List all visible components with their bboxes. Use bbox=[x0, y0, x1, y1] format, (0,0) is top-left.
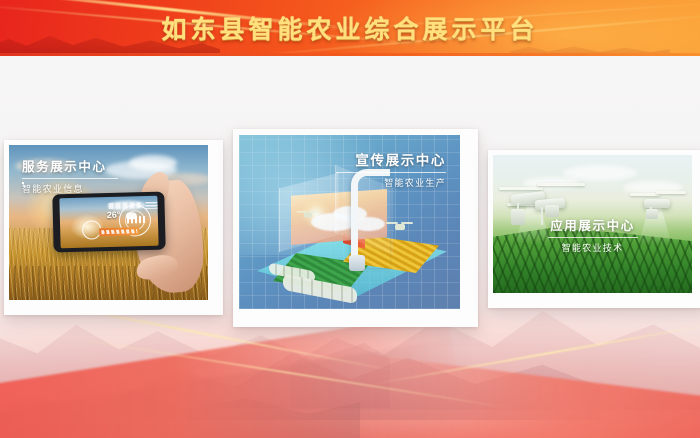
card-application-caption: 应用展示中心 智能农业技术 bbox=[493, 215, 692, 254]
drone-icon bbox=[298, 210, 319, 219]
caption-dot bbox=[22, 182, 24, 184]
card-application-center[interactable]: 应用展示中心 智能农业技术 bbox=[488, 150, 700, 308]
card-promotion-title: 宣传展示中心 bbox=[336, 149, 446, 169]
card-application-title: 应用展示中心 bbox=[493, 215, 692, 234]
drone-body bbox=[304, 213, 312, 218]
card-promotion-image: 宣传展示中心 智能农业生产 bbox=[239, 135, 460, 309]
card-promotion-caption: 宣传展示中心 智能农业生产 bbox=[336, 149, 446, 189]
header-banner: 如东县智能农业综合展示平台 bbox=[0, 0, 700, 56]
screen-info-strip bbox=[99, 227, 139, 236]
drone-body bbox=[395, 224, 405, 230]
pipe-base bbox=[349, 255, 365, 271]
hud-level-bars bbox=[127, 216, 145, 223]
caption-rule bbox=[336, 172, 446, 173]
card-service-subtitle: 智能农业信息 bbox=[22, 182, 118, 195]
card-service-image: 26° 服务展示中心 智能农业信息 bbox=[9, 145, 208, 300]
card-promotion-center[interactable]: 宣传展示中心 智能农业生产 bbox=[233, 129, 478, 327]
drone-body bbox=[644, 199, 670, 208]
cloud bbox=[563, 165, 637, 181]
cloud bbox=[129, 155, 177, 171]
card-promotion-subtitle: 智能农业生产 bbox=[336, 176, 446, 189]
drone-rotor bbox=[656, 191, 686, 194]
card-service-caption: 服务展示中心 智能农业信息 bbox=[22, 156, 118, 195]
drone-rotor bbox=[537, 183, 585, 186]
caption-rule bbox=[22, 178, 118, 179]
card-application-subtitle: 智能农业技术 bbox=[493, 241, 692, 254]
smartphone: 26° bbox=[52, 192, 165, 253]
drone-icon bbox=[387, 221, 413, 232]
card-service-center[interactable]: 26° 服务展示中心 智能农业信息 bbox=[4, 140, 223, 315]
screen-signal-bars bbox=[145, 201, 158, 209]
drone-rotor bbox=[499, 187, 543, 190]
app-stage: 如东县智能农业综合展示平台 26° bbox=[0, 0, 700, 438]
card-service-title: 服务展示中心 bbox=[22, 156, 118, 175]
card-application-image: 应用展示中心 智能农业技术 bbox=[493, 155, 692, 293]
caption-rule bbox=[548, 237, 638, 238]
page-title: 如东县智能农业综合展示平台 bbox=[0, 0, 700, 56]
phone-screen: 26° bbox=[59, 196, 158, 249]
